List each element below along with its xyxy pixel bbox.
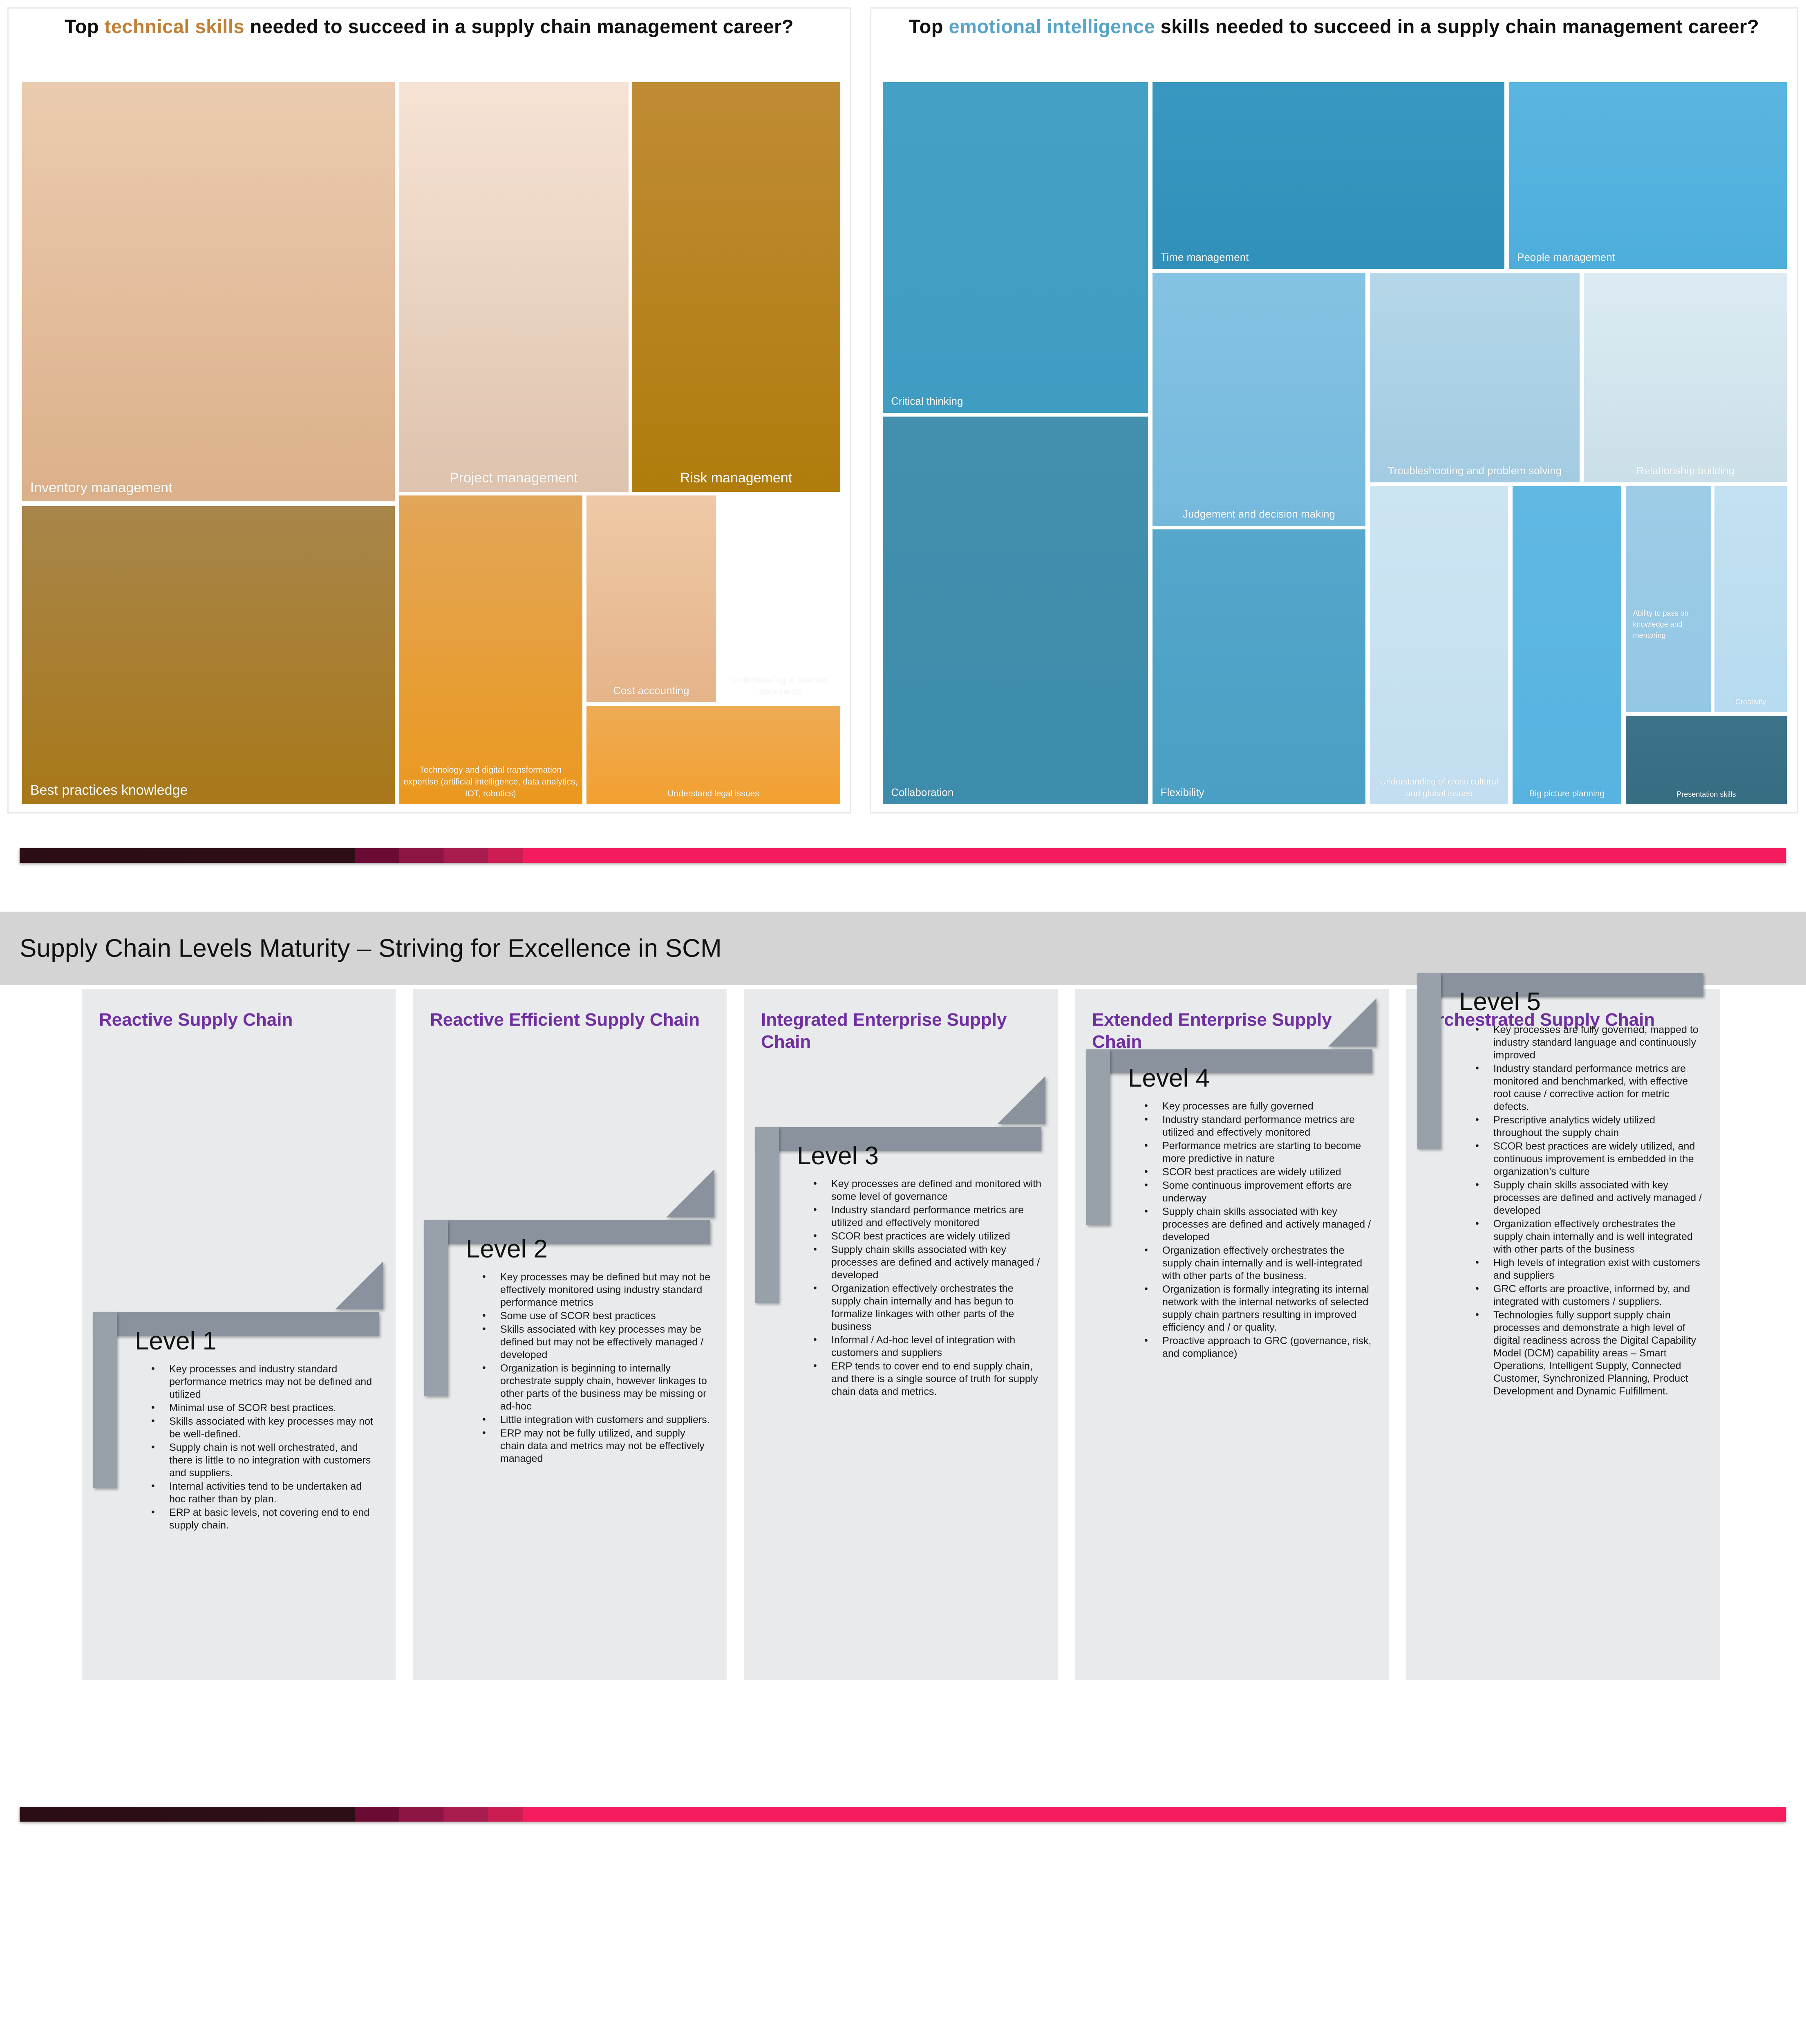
column-header: Integrated Enterprise Supply Chain bbox=[761, 1009, 1047, 1053]
level-content: Level 3 Key processes are defined and mo… bbox=[797, 1143, 1042, 1399]
list-item: SCOR best practices are widely utilized,… bbox=[1475, 1140, 1704, 1178]
tile-label: Presentation skills bbox=[1626, 789, 1787, 800]
treemap-tile-best-practices-knowledge[interactable]: Best practices knowledge bbox=[21, 505, 396, 805]
tile-label: Risk management bbox=[632, 468, 841, 488]
list-item: Some use of SCOR best practices bbox=[482, 1310, 711, 1322]
list-item: Industry standard performance metrics ar… bbox=[813, 1204, 1042, 1229]
list-item: Key processes are defined and monitored … bbox=[813, 1178, 1042, 1203]
treemap-tile-presentation-skills[interactable]: Presentation skills bbox=[1625, 715, 1788, 805]
treemap-section: Top technical skills needed to succeed i… bbox=[0, 0, 1806, 822]
list-item: Key processes and industry standard perf… bbox=[151, 1363, 380, 1401]
treemap-tile-big-picture-planning[interactable]: Big picture planning bbox=[1512, 485, 1622, 805]
level-bullet-list: Key processes are fully governed Industr… bbox=[1128, 1100, 1373, 1360]
title-part-suffix: skills needed to succeed in a supply cha… bbox=[1155, 16, 1759, 37]
tile-label: Technology and digital transformation ex… bbox=[399, 764, 582, 800]
level-title: Level 3 bbox=[797, 1143, 1042, 1169]
tile-label: Creativity bbox=[1714, 697, 1787, 708]
list-item: High levels of integration exist with cu… bbox=[1475, 1257, 1704, 1282]
list-item: Internal activities tend to be undertake… bbox=[151, 1480, 380, 1506]
maturity-column-level-2[interactable]: Reactive Efficient Supply Chain Level 2 … bbox=[413, 989, 727, 1680]
list-item: Proactive approach to GRC (governance, r… bbox=[1144, 1335, 1373, 1360]
tile-label: Understand legal issues bbox=[586, 788, 841, 800]
list-item: Key processes are fully governed, mapped… bbox=[1475, 1024, 1704, 1062]
level-bullet-list: Key processes are defined and monitored … bbox=[797, 1178, 1042, 1398]
treemap-tile-creativity[interactable]: Creativity bbox=[1714, 485, 1788, 713]
treemap-tile-troubleshooting[interactable]: Troubleshooting and problem solving bbox=[1369, 272, 1580, 483]
list-item: Organization effectively orchestrates th… bbox=[813, 1282, 1042, 1333]
list-item: Organization is beginning to internally … bbox=[482, 1362, 711, 1413]
list-item: Prescriptive analytics widely utilized t… bbox=[1475, 1114, 1704, 1139]
tile-label: Time management bbox=[1153, 250, 1505, 265]
treemap-tile-flexibility[interactable]: Flexibility bbox=[1152, 529, 1367, 805]
technical-skills-title: Top technical skills needed to succeed i… bbox=[9, 14, 850, 39]
list-item: Performance metrics are starting to beco… bbox=[1144, 1140, 1373, 1165]
tile-label: Collaboration bbox=[883, 785, 1148, 800]
list-item: Supply chain skills associated with key … bbox=[1475, 1179, 1704, 1217]
step-arrow-icon bbox=[666, 1169, 714, 1217]
list-item: Skills associated with key processes may… bbox=[482, 1323, 711, 1361]
divider-bar-top bbox=[20, 848, 1786, 863]
treemap-tile-time-management[interactable]: Time management bbox=[1152, 81, 1506, 270]
step-arrow-icon bbox=[1328, 998, 1376, 1047]
treemap-tile-critical-thinking[interactable]: Critical thinking bbox=[882, 81, 1149, 414]
maturity-columns: Reactive Supply Chain Level 1 Key proces… bbox=[0, 989, 1806, 1680]
list-item: GRC efforts are proactive, informed by, … bbox=[1475, 1283, 1704, 1308]
technical-treemap-area: Inventory management Best practices know… bbox=[9, 74, 850, 812]
list-item: Key processes may be defined but may not… bbox=[482, 1271, 711, 1309]
level-bullet-list: Key processes and industry standard perf… bbox=[135, 1363, 380, 1532]
treemap-tile-judgement-decision-making[interactable]: Judgement and decision making bbox=[1152, 272, 1367, 527]
level-bullet-list: Key processes are fully governed, mapped… bbox=[1459, 1024, 1704, 1398]
tile-label: Project management bbox=[399, 468, 629, 488]
tile-label: Judgement and decision making bbox=[1153, 507, 1366, 522]
treemap-tile-mentoring[interactable]: Ability to pass on knowledge and mentori… bbox=[1625, 485, 1712, 713]
title-part-prefix: Top bbox=[65, 16, 105, 37]
treemap-tile-inventory-management[interactable]: Inventory management bbox=[21, 81, 396, 502]
tile-label: Critical thinking bbox=[883, 394, 1148, 409]
list-item: Supply chain is not well orchestrated, a… bbox=[151, 1441, 380, 1479]
level-content: Level 1 Key processes and industry stand… bbox=[135, 1329, 380, 1533]
list-item: SCOR best practices are widely utilized bbox=[813, 1230, 1042, 1243]
title-part-suffix: needed to succeed in a supply chain mana… bbox=[244, 16, 794, 37]
maturity-column-level-4[interactable]: Extended Enterprise Supply Chain Level 4… bbox=[1075, 989, 1389, 1680]
treemap-tile-relationship-building[interactable]: Relationship building bbox=[1583, 272, 1788, 483]
treemap-tile-technology-expertise[interactable]: Technology and digital transformation ex… bbox=[398, 495, 583, 805]
emotional-intelligence-treemap-panel: Top emotional intelligence skills needed… bbox=[870, 7, 1798, 814]
treemap-tile-cost-accounting[interactable]: Cost accounting bbox=[586, 495, 717, 703]
tile-label: Ability to pass on knowledge and mentori… bbox=[1626, 608, 1711, 641]
list-item: Skills associated with key processes may… bbox=[151, 1415, 380, 1441]
column-header: Reactive Supply Chain bbox=[99, 1009, 385, 1031]
list-item: SCOR best practices are widely utilized bbox=[1144, 1166, 1373, 1179]
emotional-treemap-area: Critical thinking Collaboration Time man… bbox=[871, 74, 1797, 812]
tile-label: Big picture planning bbox=[1513, 788, 1621, 800]
list-item: Technologies fully support supply chain … bbox=[1475, 1309, 1704, 1398]
list-item: Supply chain skills associated with key … bbox=[1144, 1206, 1373, 1244]
level-content: Level 4 Key processes are fully governed… bbox=[1128, 1066, 1373, 1361]
level-title: Level 4 bbox=[1128, 1066, 1373, 1091]
treemap-tile-financial-statements[interactable]: Understanding of financial statements bbox=[718, 495, 841, 703]
maturity-column-level-1[interactable]: Reactive Supply Chain Level 1 Key proces… bbox=[82, 989, 396, 1680]
list-item: ERP tends to cover end to end supply cha… bbox=[813, 1360, 1042, 1398]
tile-label: Relationship building bbox=[1584, 464, 1787, 478]
list-item: Supply chain skills associated with key … bbox=[813, 1244, 1042, 1282]
level-content: Level 5 Key processes are fully governed… bbox=[1459, 989, 1704, 1399]
maturity-column-level-5[interactable]: Orchestrated Supply Chain Level 5 Key pr… bbox=[1406, 989, 1720, 1680]
tile-label: Troubleshooting and problem solving bbox=[1370, 464, 1580, 478]
list-item: Organization is formally integrating its… bbox=[1144, 1283, 1373, 1334]
treemap-tile-project-management[interactable]: Project management bbox=[398, 81, 629, 493]
emotional-intelligence-title: Top emotional intelligence skills needed… bbox=[871, 14, 1797, 39]
divider-bar-bottom bbox=[20, 1807, 1786, 1822]
technical-skills-treemap-panel: Top technical skills needed to succeed i… bbox=[7, 7, 851, 814]
level-title: Level 2 bbox=[466, 1237, 711, 1262]
level-title: Level 5 bbox=[1459, 989, 1704, 1015]
tile-label: Flexibility bbox=[1153, 785, 1366, 800]
tile-label: Understanding of financial statements bbox=[719, 675, 840, 698]
list-item: ERP may not be fully utilized, and suppl… bbox=[482, 1427, 711, 1465]
treemap-tile-collaboration[interactable]: Collaboration bbox=[882, 416, 1149, 805]
treemap-tile-risk-management[interactable]: Risk management bbox=[631, 81, 841, 493]
tile-label: Best practices knowledge bbox=[22, 781, 395, 800]
level-title: Level 1 bbox=[135, 1329, 380, 1354]
list-item: Informal / Ad-hoc level of integration w… bbox=[813, 1334, 1042, 1359]
tile-label: People management bbox=[1509, 250, 1787, 265]
list-item: Some continuous improvement efforts are … bbox=[1144, 1179, 1373, 1205]
treemap-tile-cross-cultural[interactable]: Understanding of cross cultural and glob… bbox=[1369, 485, 1509, 805]
tile-label: Cost accounting bbox=[586, 684, 716, 698]
maturity-heading: Supply Chain Levels Maturity – Striving … bbox=[20, 934, 722, 963]
title-part-prefix: Top bbox=[909, 16, 949, 37]
level-content: Level 2 Key processes may be defined but… bbox=[466, 1237, 711, 1466]
list-item: Industry standard performance metrics ar… bbox=[1144, 1114, 1373, 1139]
list-item: Organization effectively orchestrates th… bbox=[1144, 1244, 1373, 1282]
list-item: ERP at basic levels, not covering end to… bbox=[151, 1506, 380, 1532]
list-item: Organization effectively orchestrates th… bbox=[1475, 1218, 1704, 1256]
maturity-column-level-3[interactable]: Integrated Enterprise Supply Chain Level… bbox=[744, 989, 1058, 1680]
column-header: Reactive Efficient Supply Chain bbox=[430, 1009, 716, 1031]
treemap-tile-legal-issues[interactable]: Understand legal issues bbox=[586, 705, 841, 805]
list-item: Key processes are fully governed bbox=[1144, 1100, 1373, 1113]
step-arrow-icon bbox=[997, 1076, 1045, 1124]
tile-label: Understanding of cross cultural and glob… bbox=[1370, 776, 1508, 800]
list-item: Industry standard performance metrics ar… bbox=[1475, 1062, 1704, 1113]
tile-label: Inventory management bbox=[22, 478, 395, 498]
list-item: Little integration with customers and su… bbox=[482, 1414, 711, 1426]
maturity-section: Supply Chain Levels Maturity – Striving … bbox=[0, 912, 1806, 1795]
step-arrow-icon bbox=[335, 1261, 383, 1309]
title-part-highlight: emotional intelligence bbox=[949, 16, 1155, 37]
title-part-highlight: technical skills bbox=[105, 16, 244, 37]
level-bullet-list: Key processes may be defined but may not… bbox=[466, 1271, 711, 1465]
list-item: Minimal use of SCOR best practices. bbox=[151, 1402, 380, 1414]
treemap-tile-people-management[interactable]: People management bbox=[1508, 81, 1788, 270]
